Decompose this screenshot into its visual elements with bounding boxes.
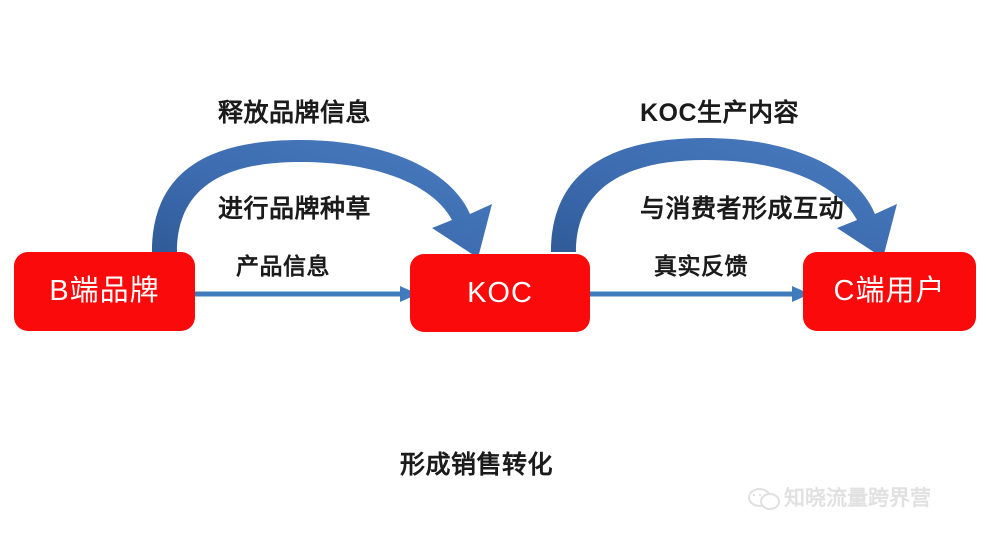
node-koc[interactable]: KOC bbox=[410, 254, 590, 332]
node-c-user-label: C端用户 bbox=[834, 277, 946, 306]
label-koc-to-user: KOC生产内容 与消费者形成互动 bbox=[640, 33, 844, 289]
label-brand-to-koc-line-1: 释放品牌信息 bbox=[218, 97, 371, 129]
speech-bubble-icon bbox=[748, 486, 778, 510]
label-real-feedback: 真实反馈 bbox=[654, 252, 748, 281]
watermark: 知晓流量跨界营 bbox=[748, 476, 976, 520]
watermark-text: 知晓流量跨界营 bbox=[784, 488, 931, 509]
label-koc-to-user-line-2: 与消费者形成互动 bbox=[640, 193, 844, 225]
label-koc-to-user-line-1: KOC生产内容 bbox=[640, 97, 844, 129]
diagram-canvas: B端品牌 KOC C端用户 释放品牌信息 进行品牌种草 KOC生产内容 与消费者… bbox=[0, 0, 988, 535]
node-b-brand-label: B端品牌 bbox=[49, 277, 159, 306]
label-brand-to-koc-line-2: 进行品牌种草 bbox=[218, 193, 371, 225]
label-brand-to-koc: 释放品牌信息 进行品牌种草 bbox=[218, 33, 371, 289]
note-koc-outcome: 形成销售转化 积累品牌粉丝 沉淀品牌价值 bbox=[400, 382, 553, 535]
node-b-brand[interactable]: B端品牌 bbox=[14, 252, 195, 331]
node-koc-label: KOC bbox=[467, 279, 533, 308]
note-koc-outcome-line-1: 形成销售转化 bbox=[400, 449, 553, 482]
label-product-info: 产品信息 bbox=[236, 252, 330, 281]
